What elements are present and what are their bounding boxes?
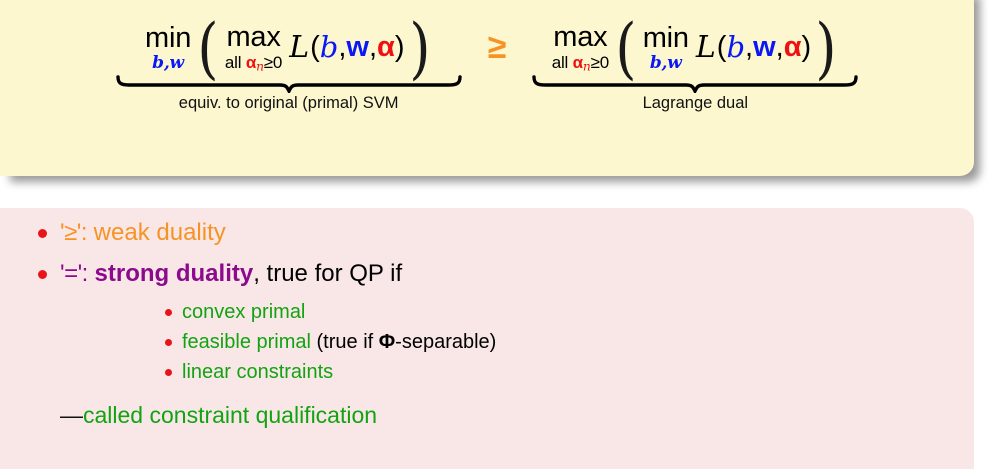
close-paren-left: ) [395, 33, 405, 62]
primal-expression: min b,w ( max all αn≥0 L(b,w,α) ) [143, 22, 434, 73]
em-dash: — [60, 402, 83, 428]
weak-duality-text: weak duality [87, 219, 226, 246]
max-sub-rest: ≥0 [264, 53, 282, 72]
phi-symbol: Φ [379, 331, 395, 353]
max-sub-alpha-outer: α [573, 53, 583, 72]
dual-expression: max all αn≥0 ( min b,w L(b,w,α) ) [550, 22, 841, 73]
feasible-primal-text: feasible primal [182, 331, 311, 353]
big-close-paren-left: ) [409, 23, 430, 74]
strong-duality-rest: , true for QP if [253, 260, 402, 287]
relation-symbol: ≥ [484, 28, 511, 67]
open-paren-right: ( [717, 33, 727, 62]
big-close-paren-right: ) [816, 23, 837, 74]
close-paren-right: ) [802, 33, 812, 62]
primal-caption: equiv. to original (primal) SVM [179, 94, 399, 113]
equation-row: min b,w ( max all αn≥0 L(b,w,α) ) [114, 22, 861, 113]
max-sub-rest-outer: ≥0 [591, 53, 609, 72]
weak-duality-symbol: '≥': [60, 219, 87, 246]
primal-side: min b,w ( max all αn≥0 L(b,w,α) ) [114, 22, 464, 113]
bullet-marker-icon [38, 229, 47, 238]
max-sub-alpha: α [246, 53, 256, 72]
min-operator-outer: min b,w [145, 24, 191, 72]
arg-w-left: w [346, 33, 369, 62]
content-panel: '≥': weak duality '=': strong duality, t… [0, 208, 974, 469]
underbrace-right-icon [530, 75, 860, 93]
slide-canvas: min b,w ( max all αn≥0 L(b,w,α) ) [0, 0, 988, 469]
comma-1-right: , [745, 33, 753, 62]
max-subscript: all αn≥0 [225, 54, 282, 73]
arg-b-left: b [320, 33, 339, 62]
dual-caption: Lagrange dual [643, 94, 749, 113]
max-sub-prefix: all [225, 53, 246, 72]
min-subscript: b,w [152, 55, 184, 72]
min-subscript-inner: b,w [650, 55, 682, 72]
arg-alpha-left: α [377, 33, 395, 62]
lagrangian-symbol-right: L [696, 33, 716, 63]
bullet-marker-icon [38, 270, 47, 279]
bullet-list: '≥': weak duality '=': strong duality, t… [0, 216, 974, 387]
max-sub-index: n [256, 59, 264, 73]
formula-content: min b,w ( max all αn≥0 L(b,w,α) ) [0, 0, 974, 176]
big-open-paren-left: ( [197, 23, 218, 74]
big-open-paren-right: ( [615, 23, 636, 74]
strong-duality-symbol: '=': [60, 260, 88, 287]
comma-2-right: , [776, 33, 784, 62]
sub-bullet-marker-icon [165, 369, 172, 376]
sub-bullet-marker-icon [165, 309, 172, 316]
arg-alpha-right: α [784, 33, 802, 62]
lagrangian-symbol-left: L [289, 33, 309, 63]
max-sub-index-outer: n [583, 59, 591, 73]
strong-duality-text: strong duality [88, 260, 253, 287]
list-item-linear-constraints: linear constraints [60, 357, 974, 387]
feasible-primal-note-open: (true if [311, 331, 379, 353]
sub-bullet-list: convex primal feasible primal (true if Φ… [60, 297, 974, 387]
sub-bullet-marker-icon [165, 339, 172, 346]
min-label-inner: min [643, 24, 689, 53]
list-item-weak-duality: '≥': weak duality [0, 216, 974, 250]
open-paren-left: ( [310, 33, 320, 62]
feasible-primal-note-close: -separable) [395, 331, 496, 353]
max-operator-inner: max all αn≥0 [225, 23, 282, 73]
max-sub-prefix-outer: all [552, 53, 573, 72]
dual-side: max all αn≥0 ( min b,w L(b,w,α) ) [530, 22, 860, 113]
min-label: min [145, 24, 191, 53]
constraint-qualification-line: —called constraint qualification [0, 399, 974, 431]
constraint-qualification-text: called constraint qualification [83, 402, 377, 428]
arg-w-right: w [753, 33, 776, 62]
max-label: max [226, 23, 280, 52]
comma-2-left: , [369, 33, 377, 62]
arg-b-right: b [726, 33, 745, 62]
max-subscript-outer: all αn≥0 [552, 54, 609, 73]
list-item-strong-duality: '=': strong duality, true for QP if conv… [0, 257, 974, 387]
list-item-feasible-primal: feasible primal (true if Φ-separable) [60, 327, 974, 357]
convex-primal-text: convex primal [182, 301, 305, 323]
max-operator-outer: max all αn≥0 [552, 23, 609, 73]
max-label-outer: max [553, 23, 607, 52]
min-operator-inner: min b,w [643, 24, 689, 72]
linear-constraints-text: linear constraints [182, 361, 333, 383]
formula-panel: min b,w ( max all αn≥0 L(b,w,α) ) [0, 0, 974, 176]
list-item-convex-primal: convex primal [60, 297, 974, 327]
